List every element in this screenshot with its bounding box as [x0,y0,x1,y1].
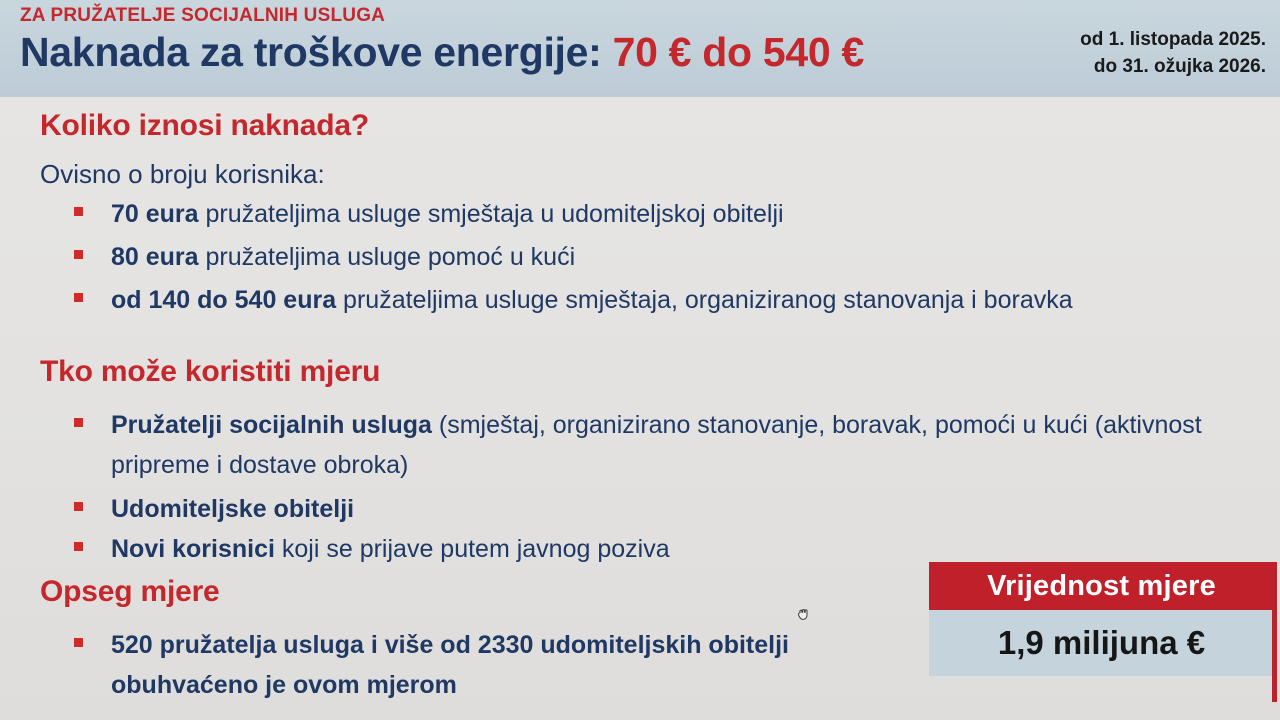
section-heading-opseg-mjere: Opseg mjere [40,575,220,609]
list-item-text: 520 pružatelja usluga i više od 2330 udo… [111,625,904,705]
list-item-text: 70 eura pružateljima usluge smještaja u … [111,194,1254,234]
header-band: ZA PRUŽATELJE SOCIJALNIH USLUGA Naknada … [0,0,1280,97]
header-title-group: ZA PRUŽATELJE SOCIJALNIH USLUGA Naknada … [20,6,864,74]
bullet-square-icon [74,250,83,259]
value-box-amount: 1,9 milijuna € [929,610,1274,676]
list-item-emphasis: od 140 do 540 eura [111,286,336,314]
list-item-emphasis: Udomiteljske obitelji [111,495,354,523]
list-item-emphasis: Novi korisnici [111,535,275,563]
headline-amount: 70 € do 540 € [613,29,864,75]
list-item-rest: koji se prijave putem javnog poziva [275,535,670,563]
bullet-square-icon [74,542,83,551]
section-lead-ovisno-o-broju-korisnika: Ovisno o broju korisnika: [40,159,325,190]
bullet-square-icon [74,207,83,216]
section-heading-koliko-iznosi-naknada: Koliko iznosi naknada? [40,109,369,143]
list-item-text: Udomiteljske obitelji [111,489,1234,529]
list-item-rest: pružateljima usluge smještaja, organizir… [336,286,1073,314]
list-item-text: Pružatelji socijalnih usluga (smještaj, … [111,405,1234,485]
headline-prefix: Naknada za troškove energije: [20,29,613,75]
slide-canvas: ZA PRUŽATELJE SOCIJALNIH USLUGA Naknada … [0,0,1280,720]
list-item: 80 eura pružateljima usluge pomoć u kući [74,237,1254,277]
list-item-emphasis: 80 eura [111,243,199,271]
list-item: Pružatelji socijalnih usluga (smještaj, … [74,405,1234,485]
header-kicker: ZA PRUŽATELJE SOCIJALNIH USLUGA [20,6,864,25]
list-item-text: od 140 do 540 eura pružateljima usluge s… [111,280,1264,320]
date-to: do 31. ožujka 2026. [1080,54,1266,81]
value-box-title: Vrijednost mjere [929,562,1274,610]
date-from: od 1. listopada 2025. [1080,27,1266,54]
list-item: od 140 do 540 eura pružateljima usluge s… [74,280,1264,320]
list-item-text: 80 eura pružateljima usluge pomoć u kući [111,237,1254,277]
bullet-square-icon [74,638,83,647]
section-heading-tko-moze-koristiti-mjeru: Tko može koristiti mjeru [40,355,380,389]
page-title: Naknada za troškove energije: 70 € do 54… [20,30,864,74]
bullet-square-icon [74,418,83,427]
list-item-emphasis: Pružatelji socijalnih usluga [111,411,432,439]
value-callout-box: Vrijednost mjere 1,9 milijuna € [929,562,1274,678]
list-item-emphasis: 520 pružatelja usluga i više od 2330 udo… [111,631,789,699]
list-item-rest: pružateljima usluge smještaja u udomitel… [199,200,784,228]
list-item: 520 pružatelja usluga i više od 2330 udo… [74,625,904,705]
right-edge-accent-bar [1272,562,1277,702]
validity-period: od 1. listopada 2025. do 31. ožujka 2026… [1080,27,1266,81]
list-item-rest: pružateljima usluge pomoć u kući [199,243,576,271]
grab-hand-cursor [795,606,813,624]
bullet-square-icon [74,293,83,302]
list-item-emphasis: 70 eura [111,200,199,228]
bullet-square-icon [74,502,83,511]
list-item: 70 eura pružateljima usluge smještaja u … [74,194,1254,234]
list-item: Udomiteljske obitelji [74,489,1234,529]
